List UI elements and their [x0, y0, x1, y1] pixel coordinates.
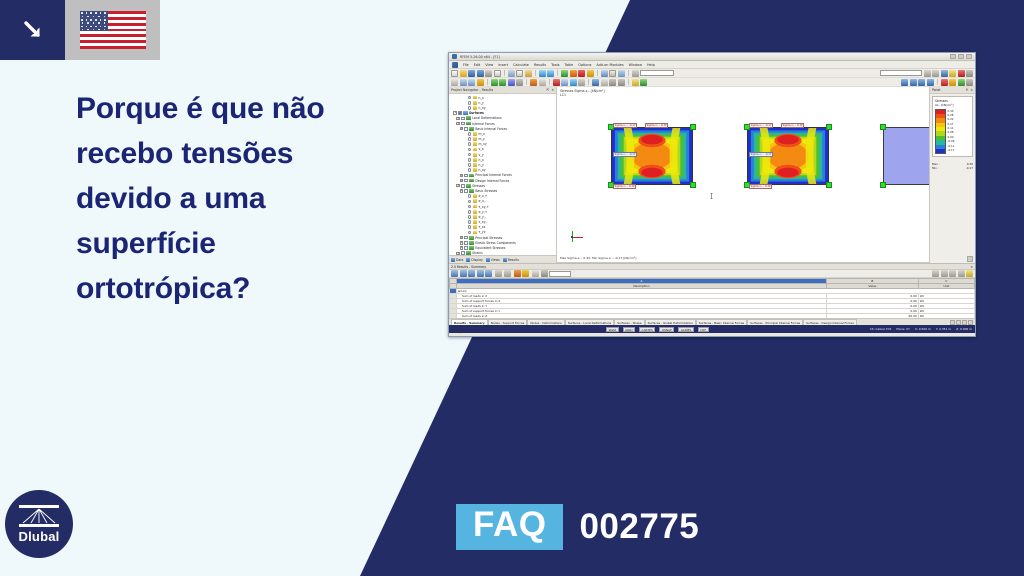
checkbox-icon[interactable]: [464, 236, 468, 240]
solid-icon[interactable]: [516, 79, 523, 86]
navigator-tab-data[interactable]: Data: [451, 258, 463, 262]
legend-color-bar: [935, 109, 946, 155]
menu-item-table[interactable]: Table: [565, 63, 574, 67]
tree-node-icon: [473, 205, 478, 209]
menu-bar[interactable]: File Edit View Insert Calculate Results …: [449, 61, 975, 69]
views-icon: [486, 258, 490, 262]
radio-icon[interactable]: [468, 225, 472, 229]
tree-node-icon: [473, 163, 478, 167]
table-settings-icon[interactable]: [477, 270, 484, 277]
load-case-icon[interactable]: [632, 70, 639, 77]
panel-close-icon[interactable]: ✕: [970, 88, 973, 92]
next-icon[interactable]: [932, 70, 939, 77]
expand-toggle-icon[interactable]: +: [453, 111, 456, 114]
expand-toggle-icon[interactable]: [463, 96, 466, 99]
maximize-button[interactable]: [958, 54, 964, 59]
data-icon: [451, 258, 455, 262]
status-coord-system: CS: Global XYZ: [870, 327, 892, 331]
nodal-load-icon[interactable]: [561, 79, 568, 86]
status-snap[interactable]: SNAP: [606, 327, 619, 332]
window-title: RFEM 5.26.00 x64 - [F1]: [460, 55, 500, 59]
results-icon[interactable]: [578, 70, 585, 77]
checkbox-icon[interactable]: [464, 241, 468, 245]
expand-toggle-icon[interactable]: [463, 205, 466, 208]
navigator-tabs[interactable]: Data Display Views Results: [449, 255, 556, 263]
tree-node-icon: [473, 210, 478, 214]
radio-icon[interactable]: [468, 142, 472, 146]
menu-item-file[interactable]: File: [463, 63, 469, 67]
navigator-tab-views-label: Views: [491, 258, 500, 262]
faq-footer: FAQ 002775: [456, 504, 699, 550]
grid-icon[interactable]: [609, 70, 616, 77]
new-file-icon[interactable]: [451, 70, 458, 77]
expand-toggle-icon[interactable]: +: [460, 189, 463, 192]
tree-item-label: Design Internal Forces: [475, 179, 509, 183]
value-label: Sigma-x,- : -0.17: [749, 152, 773, 157]
pin-icon[interactable]: ⇱: [547, 88, 550, 92]
expand-toggle-icon[interactable]: +: [460, 246, 463, 249]
navigator-tab-display[interactable]: Display: [466, 258, 482, 262]
expand-toggle-icon[interactable]: [463, 200, 466, 203]
undo-icon[interactable]: [539, 70, 546, 77]
dlubal-logo: Dlubal: [5, 490, 73, 558]
tree-node-icon: [473, 132, 478, 136]
radio-icon[interactable]: [468, 210, 472, 214]
menu-item-edit[interactable]: Edit: [474, 63, 481, 67]
table-view-icon[interactable]: [485, 270, 492, 277]
open-file-icon[interactable]: [460, 70, 467, 77]
copy-icon[interactable]: [516, 70, 523, 77]
application-body: Project Navigator - Results ⇱ ✕ n_xn_yn_…: [449, 87, 975, 263]
expand-toggle-icon[interactable]: [463, 210, 466, 213]
tree-node-icon: [469, 241, 474, 245]
main-toolbar[interactable]: [449, 69, 975, 78]
line-icon[interactable]: [460, 79, 467, 86]
tree-node-icon: [469, 179, 474, 183]
table-first-icon[interactable]: [932, 270, 939, 277]
radio-icon[interactable]: [468, 215, 472, 219]
load-case-combo[interactable]: [640, 70, 674, 76]
visibility-icon[interactable]: [640, 79, 647, 86]
navigator-title: Project Navigator - Results: [451, 88, 493, 92]
tree-item-label: m_xy: [479, 142, 487, 146]
checkbox-icon[interactable]: [458, 111, 462, 115]
tree-item-label: σ_y,-: [479, 215, 486, 219]
expand-toggle-icon[interactable]: [463, 153, 466, 156]
menu-item-view[interactable]: View: [485, 63, 493, 67]
cut-icon[interactable]: [508, 70, 515, 77]
navigator-tab-results[interactable]: Results: [503, 258, 519, 262]
minimize-button[interactable]: [950, 54, 956, 59]
navigator-tree[interactable]: n_xn_yn_xy+Surfaces+Local Deformations+I…: [449, 94, 556, 255]
expand-toggle-icon[interactable]: [463, 231, 466, 234]
table-last-icon[interactable]: [958, 270, 965, 277]
tree-item-label: Principal Internal Forces: [475, 173, 512, 177]
table-tab[interactable]: Surfaces - Shape: [614, 319, 644, 325]
tree-node-icon: [473, 148, 478, 152]
expand-toggle-icon[interactable]: [463, 194, 466, 197]
results-table-area: 2.0 Results - Summary ✕: [449, 263, 975, 325]
tree-item-label: Equivalent Stresses: [475, 246, 505, 250]
tree-node-icon: [473, 106, 478, 110]
table-loadcase-combo[interactable]: [549, 271, 571, 277]
table-export-icon[interactable]: [460, 270, 467, 277]
legend-unit: σx,- [kN/cm²]: [935, 103, 970, 107]
expand-toggle-icon[interactable]: +: [456, 122, 459, 125]
render-icon[interactable]: [601, 70, 608, 77]
legend-value: -0.17: [948, 148, 955, 152]
expand-toggle-icon[interactable]: +: [460, 241, 463, 244]
contour-display-icon[interactable]: [949, 79, 956, 86]
tree-node-icon: [473, 231, 478, 235]
table-help-icon[interactable]: [966, 270, 973, 277]
print-icon[interactable]: [485, 70, 492, 77]
value-label: Sigma-x,- : 0.30: [613, 184, 636, 189]
status-bar: Workplane SNAP GRID CARTES OSNAP GLINES …: [449, 325, 975, 333]
tree-node-icon: [473, 96, 478, 100]
section-display-icon[interactable]: [966, 79, 973, 86]
checkbox-icon[interactable]: [461, 251, 465, 255]
expand-toggle-icon[interactable]: [463, 132, 466, 135]
menu-item-window[interactable]: Window: [629, 63, 642, 67]
handle-top-left[interactable]: [880, 124, 886, 130]
viewport-result-label: Stresses Sigma-x,- [kN/cm²]: [560, 89, 605, 93]
snap-icon[interactable]: [618, 70, 625, 77]
tree-item-label: σ_y,+: [479, 210, 488, 214]
table-tab[interactable]: Nodes - Support Forces: [488, 319, 528, 325]
support-icon[interactable]: [530, 79, 537, 86]
radio-icon[interactable]: [468, 194, 472, 198]
tab-first-icon[interactable]: [950, 320, 955, 325]
tree-item-label: Elastic Stress Components: [475, 241, 516, 245]
table-print-icon[interactable]: [451, 270, 458, 277]
radio-icon[interactable]: [468, 148, 472, 152]
table-next-icon[interactable]: [504, 270, 511, 277]
checkbox-icon[interactable]: [461, 117, 465, 121]
prev-icon[interactable]: [924, 70, 931, 77]
tree-node-icon: [473, 225, 478, 229]
value-label: Sigma-x,- : -0.17: [613, 123, 637, 128]
display-properties-icon[interactable]: [632, 79, 639, 86]
zoom-all-icon[interactable]: [927, 79, 934, 86]
text-cursor-icon: [709, 193, 713, 198]
expand-toggle-icon[interactable]: [463, 220, 466, 223]
tree-item-label: n_x: [479, 158, 484, 162]
table-forward-icon[interactable]: [949, 270, 956, 277]
results-tab-icon: [503, 258, 507, 262]
table-tab[interactable]: Surfaces - Local Deformations: [565, 319, 614, 325]
expand-toggle-icon[interactable]: +: [456, 117, 459, 120]
tree-node-icon: [469, 127, 474, 131]
status-cartes[interactable]: CARTES: [639, 327, 655, 332]
tree-item-label: n_xy: [479, 106, 486, 110]
radio-icon[interactable]: [468, 220, 472, 224]
arc-icon[interactable]: [477, 79, 484, 86]
checkbox-icon[interactable]: [464, 127, 468, 131]
status-workplane: Workplane: [449, 330, 467, 336]
expand-toggle-icon[interactable]: [463, 158, 466, 161]
table-tabs-strip[interactable]: Results - SummaryNodes - Support ForcesN…: [449, 318, 975, 325]
status-z: Z: 0.000 m: [956, 327, 972, 331]
menu-item-insert[interactable]: Insert: [498, 63, 508, 67]
radio-icon[interactable]: [468, 137, 472, 141]
tree-node-icon: [469, 189, 474, 193]
tab-prev-icon[interactable]: [956, 320, 961, 325]
checkbox-icon[interactable]: [464, 174, 468, 178]
table-tab[interactable]: Surfaces - Basic Internal Forces: [696, 319, 747, 325]
tree-item-label: Strains: [472, 251, 483, 255]
tree-item-label: τ_xy,+: [479, 205, 490, 209]
tree-node-icon: [473, 168, 478, 172]
panel-pin-icon[interactable]: ⇱: [966, 88, 969, 92]
settings-icon[interactable]: [966, 70, 973, 77]
expand-toggle-icon[interactable]: [463, 163, 466, 166]
tree-item-label: n_xy: [479, 168, 486, 172]
rfem-app-icon: [452, 54, 457, 59]
table-highlight-icon[interactable]: [522, 270, 529, 277]
tree-node-icon: [473, 158, 478, 162]
coordinate-axes-icon: [571, 230, 587, 246]
tree-item-label: Stresses: [472, 184, 485, 188]
viewport-loadcase-label: LC1: [560, 93, 605, 97]
viewport-wrapper: Stresses Sigma-x,- [kN/cm²] LC1: [557, 87, 929, 263]
navigator-tab-data-label: Data: [456, 258, 463, 262]
load-icon[interactable]: [553, 79, 560, 86]
hinge-icon[interactable]: [539, 79, 546, 86]
model-viewport[interactable]: Stresses Sigma-x,- [kN/cm²] LC1: [557, 87, 929, 263]
expand-toggle-icon[interactable]: +: [460, 127, 463, 130]
expand-toggle-icon[interactable]: +: [460, 179, 463, 182]
arrow-down-right-icon: [0, 0, 65, 60]
status-x: X: 0.500 m: [915, 327, 931, 331]
tree-node-icon: [463, 111, 468, 115]
value-label: Sigma-x,- : 0.30: [749, 184, 772, 189]
value-label: Sigma-x,- : -0.17: [613, 152, 637, 157]
zoom-fit-icon[interactable]: [941, 70, 948, 77]
expand-toggle-icon[interactable]: +: [460, 174, 463, 177]
secondary-toolbar[interactable]: [449, 78, 975, 87]
navigator-tab-views[interactable]: Views: [486, 258, 500, 262]
zoom-window-icon[interactable]: [918, 79, 925, 86]
refresh-icon[interactable]: [587, 70, 594, 77]
front-view-icon[interactable]: [618, 79, 625, 86]
table-back-icon[interactable]: [941, 270, 948, 277]
panel-footer: [930, 254, 975, 263]
status-grid[interactable]: GRID: [623, 327, 635, 332]
surface-contour-2[interactable]: Sigma-x,- : -0.17 Sigma-x,- : 0.30 Sigma…: [747, 127, 829, 185]
handle-bottom-left[interactable]: [880, 182, 886, 188]
table-tab[interactable]: Surfaces - Design Internal Forces: [803, 319, 857, 325]
view-combo[interactable]: [880, 70, 922, 76]
us-flag-icon: [65, 0, 160, 60]
radio-icon[interactable]: [468, 101, 472, 105]
surface-orthotropic-no-results[interactable]: [883, 127, 929, 185]
select-icon[interactable]: [451, 79, 458, 86]
polyline-icon[interactable]: [468, 79, 475, 86]
tree-item-label: Local Deformations: [472, 116, 501, 120]
table-tab[interactable]: Surfaces - Principal Internal Forces: [747, 319, 803, 325]
expand-toggle-icon[interactable]: +: [456, 252, 459, 255]
radio-icon[interactable]: [468, 200, 472, 204]
color-legend: Stresses σx,- [kN/cm²] 0.300.280.220.170…: [932, 96, 973, 157]
radio-icon[interactable]: [468, 158, 472, 162]
expand-toggle-icon[interactable]: [463, 143, 466, 146]
tree-node-icon: [469, 174, 474, 178]
legend-value-list: 0.300.280.220.170.110.060.00-0.06-0.11-0…: [948, 109, 955, 155]
table-tab[interactable]: Results - Summary: [451, 319, 488, 325]
save-icon[interactable]: [468, 70, 475, 77]
tree-item-label: Basic Stresses: [475, 189, 497, 193]
table-tab[interactable]: Nodes - Deformations: [527, 319, 565, 325]
tree-item[interactable]: +Strains: [450, 251, 556, 255]
table-title: 2.0 Results - Summary: [451, 265, 486, 269]
tree-item-label: n_y: [479, 101, 484, 105]
table-tab[interactable]: Surfaces - Global Deformations: [645, 319, 696, 325]
handle-top-right[interactable]: [826, 124, 832, 130]
page-title: Porque é que não recebo tensões devido a…: [76, 86, 376, 311]
tree-item-label: Basic Internal Forces: [475, 127, 507, 131]
paste-icon[interactable]: [525, 70, 532, 77]
tree-node-icon: [473, 142, 478, 146]
menu-item-results[interactable]: Results: [534, 63, 546, 67]
radio-icon[interactable]: [468, 205, 472, 209]
tree-node-icon: [473, 137, 478, 141]
save-all-icon[interactable]: [477, 70, 484, 77]
tree-node-icon: [466, 122, 471, 126]
panel-resize-handle[interactable]: [967, 256, 973, 262]
member-icon[interactable]: [499, 79, 506, 86]
radio-icon[interactable]: [468, 132, 472, 136]
info-icon[interactable]: [958, 70, 965, 77]
value-label: Sigma-x,- : -0.17: [749, 123, 773, 128]
checkbox-icon[interactable]: [464, 246, 468, 250]
radio-icon[interactable]: [468, 163, 472, 167]
handle-top-right[interactable]: [690, 124, 696, 130]
faq-number: 002775: [579, 507, 699, 547]
checkbox-icon[interactable]: [464, 189, 468, 193]
menu-item-tools[interactable]: Tools: [551, 63, 559, 67]
tab-last-icon[interactable]: [968, 320, 973, 325]
calculate-all-icon[interactable]: [570, 70, 577, 77]
calculate-icon[interactable]: [561, 70, 568, 77]
menu-item-addon-modules[interactable]: Add-on Modules: [596, 63, 623, 67]
radio-icon[interactable]: [468, 106, 472, 110]
tree-node-icon: [473, 153, 478, 157]
table-filter-icon[interactable]: [468, 270, 475, 277]
close-button[interactable]: [966, 54, 972, 59]
surface-icon[interactable]: [508, 79, 515, 86]
results-table[interactable]: ABCDescriptionValueUnit⊟ LC1Sum of loads…: [449, 278, 975, 318]
menu-item-help[interactable]: Help: [647, 63, 655, 67]
redo-icon[interactable]: [547, 70, 554, 77]
radio-icon[interactable]: [468, 168, 472, 172]
menu-item-options[interactable]: Options: [578, 63, 591, 67]
mesh-icon[interactable]: [578, 79, 585, 86]
tree-node-icon: [466, 116, 471, 120]
table-color-icon[interactable]: [514, 270, 521, 277]
deformation-display-icon[interactable]: [941, 79, 948, 86]
tree-node-icon: [469, 236, 474, 240]
checkbox-icon[interactable]: [464, 179, 468, 183]
expand-toggle-icon[interactable]: [463, 215, 466, 218]
tree-item-label: n_x: [479, 96, 484, 100]
surface-contour-1[interactable]: Sigma-x,- : -0.17 Sigma-x,- : 0.30 Sigma…: [611, 127, 693, 185]
surface-load-icon[interactable]: [570, 79, 577, 86]
table-close-icon[interactable]: ✕: [970, 265, 973, 269]
handle-bottom-right[interactable]: [690, 182, 696, 188]
viewport-label: Stresses Sigma-x,- [kN/cm²] LC1: [560, 89, 605, 97]
menu-item-calculate[interactable]: Calculate: [513, 63, 529, 67]
window-controls[interactable]: [950, 54, 972, 59]
isometric-view-icon[interactable]: [609, 79, 616, 86]
expand-toggle-icon[interactable]: [463, 101, 466, 104]
tree-node-icon: [473, 220, 478, 224]
status-glines[interactable]: GLINES: [678, 327, 694, 332]
table-grid-icon[interactable]: [532, 270, 539, 277]
tree-node-icon: [466, 251, 471, 255]
legend-color-swatch: [936, 149, 945, 153]
status-osnap[interactable]: OSNAP: [659, 327, 674, 332]
handle-bottom-right[interactable]: [826, 182, 832, 188]
table-prev-icon[interactable]: [495, 270, 502, 277]
tree-node-icon: [466, 184, 471, 188]
radio-icon[interactable]: [468, 96, 472, 100]
expand-toggle-icon[interactable]: [463, 137, 466, 140]
table-tab-nav[interactable]: [950, 320, 973, 325]
tree-item-label: v_x: [479, 147, 484, 151]
tree-item-label: τ_xy,-: [479, 220, 488, 224]
radio-icon[interactable]: [468, 153, 472, 157]
pan-view-icon[interactable]: [601, 79, 608, 86]
checkbox-icon[interactable]: [461, 184, 465, 188]
project-navigator-panel: Project Navigator - Results ⇱ ✕ n_xn_yn_…: [449, 87, 557, 263]
zoom-out-icon[interactable]: [910, 79, 917, 86]
tree-node-icon: [473, 194, 478, 198]
tree-item-label: n_y: [479, 163, 484, 167]
tree-node-icon: [473, 215, 478, 219]
help-icon[interactable]: [949, 70, 956, 77]
radio-icon[interactable]: [468, 231, 472, 235]
table-info-icon[interactable]: [541, 270, 548, 277]
tree-item-label: τ_xz: [479, 225, 486, 229]
expand-toggle-icon[interactable]: [463, 106, 466, 109]
printout-report-icon[interactable]: [494, 70, 501, 77]
rotate-view-icon[interactable]: [592, 79, 599, 86]
expand-toggle-icon[interactable]: +: [460, 236, 463, 239]
expand-toggle-icon[interactable]: [463, 226, 466, 229]
tree-item-label: σ_x,+: [479, 194, 488, 198]
flat-surface-fill: [883, 127, 929, 185]
tree-item-label: τ_yz: [479, 230, 486, 234]
navigator-tab-results-label: Results: [508, 258, 519, 262]
tree-item-label: Internal Forces: [472, 122, 495, 126]
truss-bridge-icon: [19, 505, 59, 527]
checkbox-icon[interactable]: [461, 122, 465, 126]
navigator-tab-display-label: Display: [471, 258, 482, 262]
node-icon[interactable]: [491, 79, 498, 86]
expand-toggle-icon[interactable]: [463, 148, 466, 151]
table-toolbar[interactable]: [449, 270, 975, 278]
expand-toggle-icon[interactable]: [463, 169, 466, 172]
tab-next-icon[interactable]: [962, 320, 967, 325]
close-icon[interactable]: ✕: [551, 88, 554, 92]
tree-item-label: v_y: [479, 153, 484, 157]
zoom-in-icon[interactable]: [901, 79, 908, 86]
status-dxf[interactable]: DXF: [698, 327, 709, 332]
panel-title: Panel: [932, 88, 940, 92]
expand-toggle-icon[interactable]: +: [456, 184, 459, 187]
isoline-display-icon[interactable]: [958, 79, 965, 86]
